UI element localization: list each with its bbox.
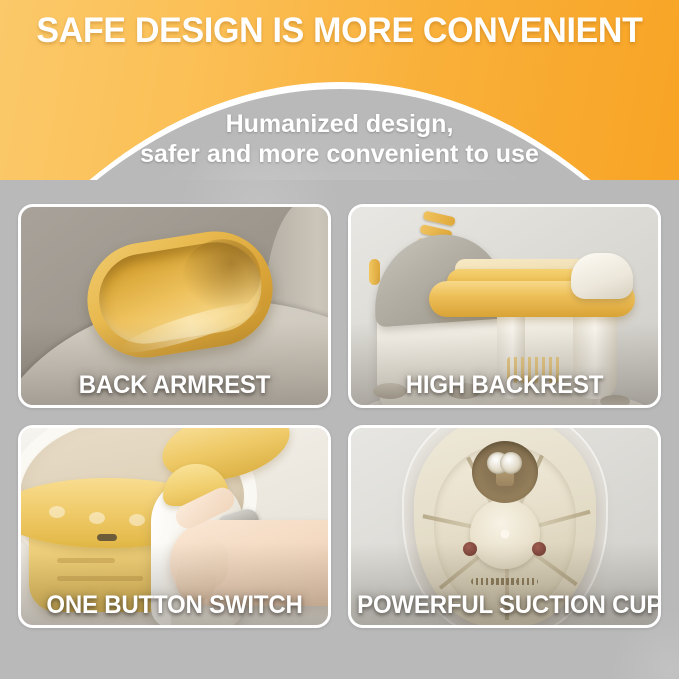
panel-groove	[57, 558, 115, 563]
feature-card-high-backrest[interactable]: HIGH BACKREST	[348, 204, 661, 408]
panel-groove	[57, 576, 143, 581]
page-subtitle: Humanized design, safer and more conveni…	[0, 109, 679, 169]
feature-card-powerful-suction-cup[interactable]: POWERFUL SUCTION CUP	[348, 425, 661, 629]
card-label-powerful-suction-cup: POWERFUL SUCTION CUP	[357, 591, 652, 620]
vent-slot-shape	[97, 534, 117, 541]
suction-cup-stem-shape	[463, 542, 477, 556]
subtitle-line-1: Humanized design,	[0, 109, 679, 139]
card-label-high-backrest: HIGH BACKREST	[357, 371, 652, 400]
page-title: SAFE DESIGN IS MORE CONVENIENT	[10, 11, 669, 51]
rim-dot	[89, 512, 105, 524]
feature-card-one-button-switch[interactable]: ONE BUTTON SWITCH	[18, 425, 331, 629]
subtitle-line-2: safer and more convenient to use	[0, 139, 679, 169]
ladder-rung	[423, 210, 456, 226]
infographic-page: SAFE DESIGN IS MORE CONVENIENT Humanized…	[0, 0, 679, 679]
screw-shape	[500, 452, 522, 474]
rim-dot	[49, 506, 65, 518]
card-label-back-armrest: BACK ARMREST	[27, 371, 322, 400]
suction-cup-stem-shape	[532, 542, 546, 556]
side-knob-shape	[571, 253, 633, 299]
header-banner: SAFE DESIGN IS MORE CONVENIENT Humanized…	[0, 0, 679, 180]
card-label-one-button-switch: ONE BUTTON SWITCH	[27, 591, 322, 620]
feature-card-grid: BACK ARMREST	[18, 204, 661, 628]
base-vent-shape	[492, 578, 538, 585]
center-hub-dot	[500, 530, 509, 539]
rim-dot	[129, 514, 145, 526]
feature-card-back-armrest[interactable]: BACK ARMREST	[18, 204, 331, 408]
side-tab-shape	[369, 259, 380, 285]
